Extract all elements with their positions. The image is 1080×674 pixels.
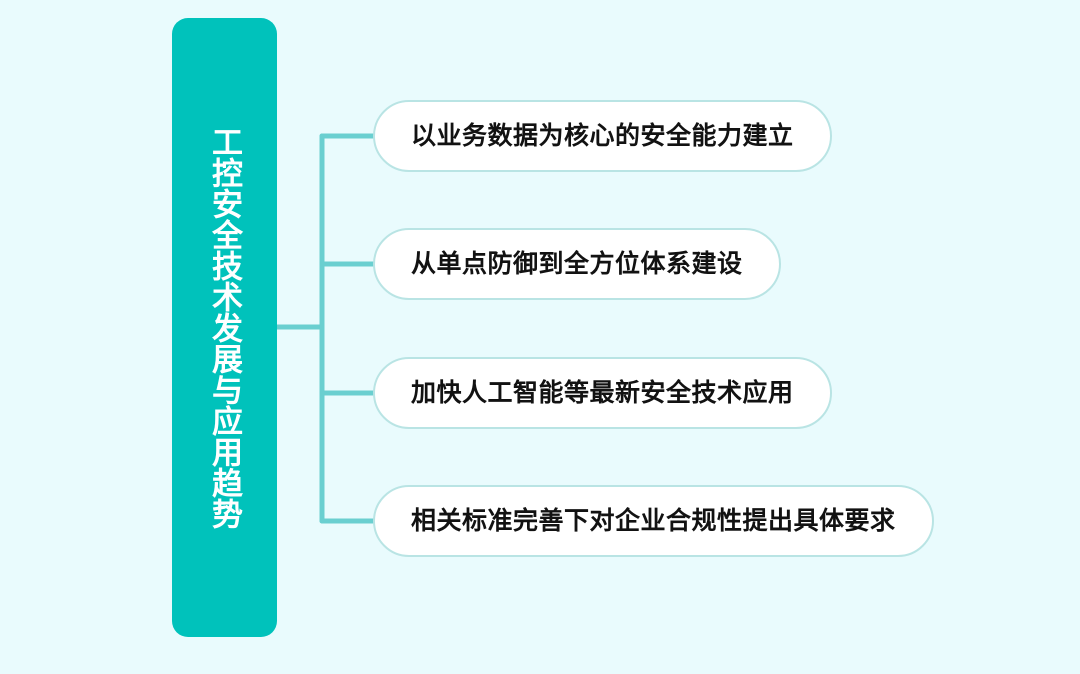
branch-node-4-label: 相关标准完善下对企业合规性提出具体要求 xyxy=(411,509,896,534)
branch-node-1[interactable]: 以业务数据为核心的安全能力建立 xyxy=(373,100,832,172)
root-node[interactable]: 工控安全技术发展与应用趋势 xyxy=(172,18,277,637)
branch-node-2-label: 从单点防御到全方位体系建设 xyxy=(411,252,743,277)
mind-map-canvas: 工控安全技术发展与应用趋势 以业务数据为核心的安全能力建立 从单点防御到全方位体… xyxy=(0,0,1080,674)
branch-node-2[interactable]: 从单点防御到全方位体系建设 xyxy=(373,228,781,300)
branch-node-3-label: 加快人工智能等最新安全技术应用 xyxy=(411,381,794,406)
root-node-label: 工控安全技术发展与应用趋势 xyxy=(198,126,251,529)
branch-node-1-label: 以业务数据为核心的安全能力建立 xyxy=(411,124,794,149)
branch-node-3[interactable]: 加快人工智能等最新安全技术应用 xyxy=(373,357,832,429)
branch-node-4[interactable]: 相关标准完善下对企业合规性提出具体要求 xyxy=(373,485,934,557)
